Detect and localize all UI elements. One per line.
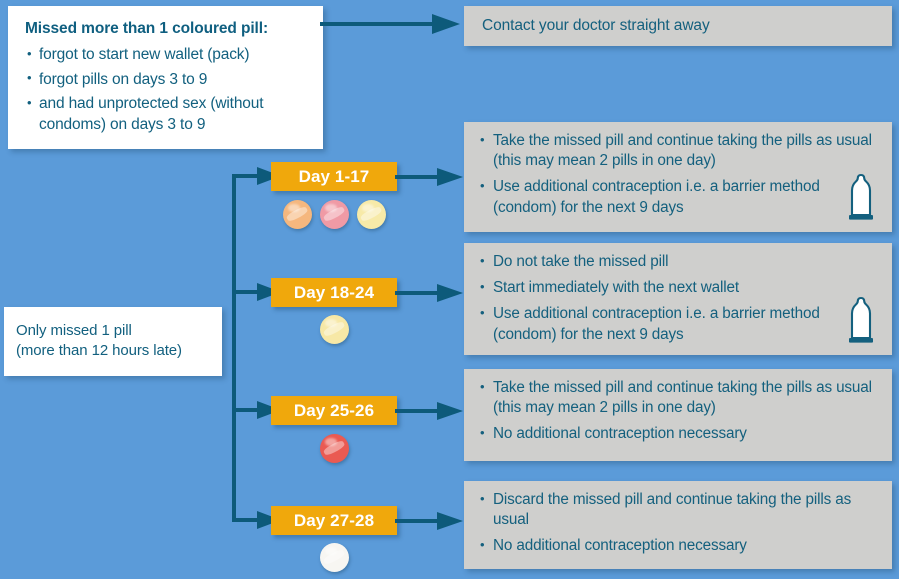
- pill-pink: [320, 200, 349, 229]
- list-item: Discard the missed pill and continue tak…: [478, 490, 880, 530]
- outcome-box-day-1-17: Take the missed pill and continue taking…: [464, 122, 892, 232]
- list-item: Use additional contraception i.e. a barr…: [478, 177, 880, 217]
- pill-yellow: [320, 315, 349, 344]
- missed-multiple-pills-list: forgot to start new wallet (pack) forgot…: [25, 45, 307, 135]
- list-item: forgot pills on days 3 to 9: [25, 70, 307, 90]
- list-item: and had unprotected sex (without condoms…: [25, 94, 307, 135]
- pill-yellow: [357, 200, 386, 229]
- pill-group-4: [271, 543, 397, 572]
- list-item: Do not take the missed pill: [478, 252, 880, 272]
- list-item: Start immediately with the next wallet: [478, 278, 880, 298]
- outcome-box-contact-doctor: Contact your doctor straight away: [464, 6, 892, 46]
- list-item: No additional contraception necessary: [478, 424, 880, 444]
- outcome-list: Take the missed pill and continue taking…: [478, 131, 880, 218]
- list-item: forgot to start new wallet (pack): [25, 45, 307, 65]
- condom-icon: [844, 296, 878, 346]
- list-item: Take the missed pill and continue taking…: [478, 131, 880, 171]
- day-label-4[interactable]: Day 27-28: [271, 506, 397, 535]
- list-item: Take the missed pill and continue taking…: [478, 378, 880, 418]
- condom-icon: [844, 173, 878, 223]
- list-item: Use additional contraception i.e. a barr…: [478, 304, 880, 344]
- only-missed-line-2: (more than 12 hours late): [16, 341, 212, 361]
- only-missed-line-1: Only missed 1 pill: [16, 321, 212, 341]
- outcome-list: Discard the missed pill and continue tak…: [478, 490, 880, 557]
- pill-orange: [283, 200, 312, 229]
- arrow-right-icon-top: [320, 12, 470, 36]
- outcome-list: Take the missed pill and continue taking…: [478, 378, 880, 445]
- pill-group-1: [271, 200, 397, 229]
- only-missed-one-pill-box: Only missed 1 pill (more than 12 hours l…: [4, 307, 222, 376]
- outcome-text: Contact your doctor straight away: [482, 16, 880, 36]
- pill-white: [320, 543, 349, 572]
- outcome-box-day-27-28: Discard the missed pill and continue tak…: [464, 481, 892, 569]
- arrow-right-icon-branch-4: [395, 510, 471, 532]
- list-item: No additional contraception necessary: [478, 536, 880, 556]
- pill-group-3: [271, 434, 397, 463]
- flowchart-canvas: Missed more than 1 coloured pill: forgot…: [0, 0, 899, 579]
- arrow-right-icon-branch-2: [395, 282, 471, 304]
- pill-red: [320, 434, 349, 463]
- outcome-box-day-18-24: Do not take the missed pill Start immedi…: [464, 243, 892, 355]
- missed-multiple-pills-box: Missed more than 1 coloured pill: forgot…: [8, 6, 323, 149]
- pill-group-2: [271, 315, 397, 344]
- day-label-3[interactable]: Day 25-26: [271, 396, 397, 425]
- day-label-2[interactable]: Day 18-24: [271, 278, 397, 307]
- outcome-box-day-25-26: Take the missed pill and continue taking…: [464, 369, 892, 461]
- arrow-right-icon-branch-1: [395, 166, 471, 188]
- arrow-right-icon-branch-3: [395, 400, 471, 422]
- missed-multiple-pills-title: Missed more than 1 coloured pill:: [25, 19, 307, 38]
- day-label-1[interactable]: Day 1-17: [271, 162, 397, 191]
- outcome-list: Do not take the missed pill Start immedi…: [478, 252, 880, 345]
